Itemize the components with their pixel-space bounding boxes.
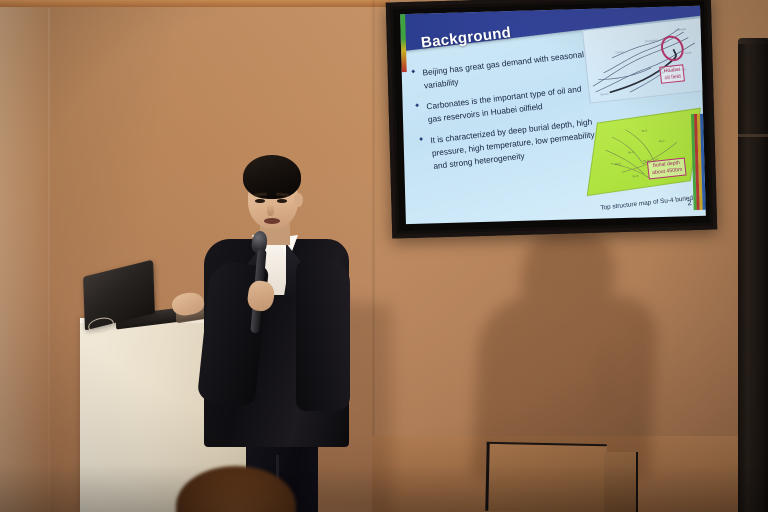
bullet-item: It is characterized by deep burial depth…	[419, 115, 602, 173]
wall-light-panel	[0, 0, 52, 512]
presenter-hand-left	[170, 290, 206, 318]
presentation-slide: Background Beijing has great gas demand …	[400, 6, 706, 224]
slide-number: 2	[687, 198, 692, 207]
slide-bullet-list: Beijing has great gas demand with season…	[411, 47, 603, 182]
nose	[267, 204, 274, 216]
projection-screen: Background Beijing has great gas demand …	[386, 0, 717, 238]
huabei-oilfield-label: Huabei oil field	[659, 64, 685, 84]
svg-text:Su-1: Su-1	[641, 128, 648, 133]
eye-left	[255, 199, 265, 203]
svg-text:Tianjin: Tianjin	[684, 50, 692, 55]
presenter-shadow	[470, 224, 680, 474]
presentation-room-scene: Background Beijing has great gas demand …	[0, 0, 768, 512]
top-structure-map-figure: Su-1 Su-2 Su-4 Su-6 Su-5 Su-8 burial dep…	[580, 105, 706, 205]
svg-text:Taiyuan: Taiyuan	[600, 91, 610, 96]
svg-text:Zhangjiakou: Zhangjiakou	[644, 38, 659, 44]
pipeline-route-map-figure: Datong Zhangjiakou Chengde Taiyuan Shaan…	[582, 17, 706, 104]
svg-text:Datong: Datong	[615, 50, 624, 55]
eye-right	[277, 199, 287, 203]
svg-text:Su-5: Su-5	[615, 161, 622, 166]
audio-speaker-column	[738, 38, 768, 512]
svg-text:Su-4: Su-4	[628, 150, 635, 155]
contour-lines-icon: Su-1 Su-2 Su-4 Su-6 Su-5 Su-8	[580, 105, 706, 205]
mouth	[264, 218, 280, 224]
slide-accent-stripe-right	[691, 114, 706, 210]
presenter-ear	[294, 193, 303, 207]
wall-seam	[48, 8, 50, 512]
screen-bezel: Background Beijing has great gas demand …	[393, 1, 710, 232]
presenter-hair	[243, 155, 301, 199]
svg-text:Chengde: Chengde	[675, 27, 686, 32]
presenter	[168, 155, 353, 512]
presenter-arm-right	[296, 259, 350, 411]
svg-text:Su-2: Su-2	[659, 138, 666, 143]
shadow-microphone	[596, 342, 613, 412]
wall-top-trim	[0, 0, 390, 7]
floor-shadow	[0, 464, 768, 512]
svg-text:Su-8: Su-8	[632, 174, 639, 179]
route-lines-icon: Datong Zhangjiakou Chengde Taiyuan Shaan…	[583, 18, 706, 104]
